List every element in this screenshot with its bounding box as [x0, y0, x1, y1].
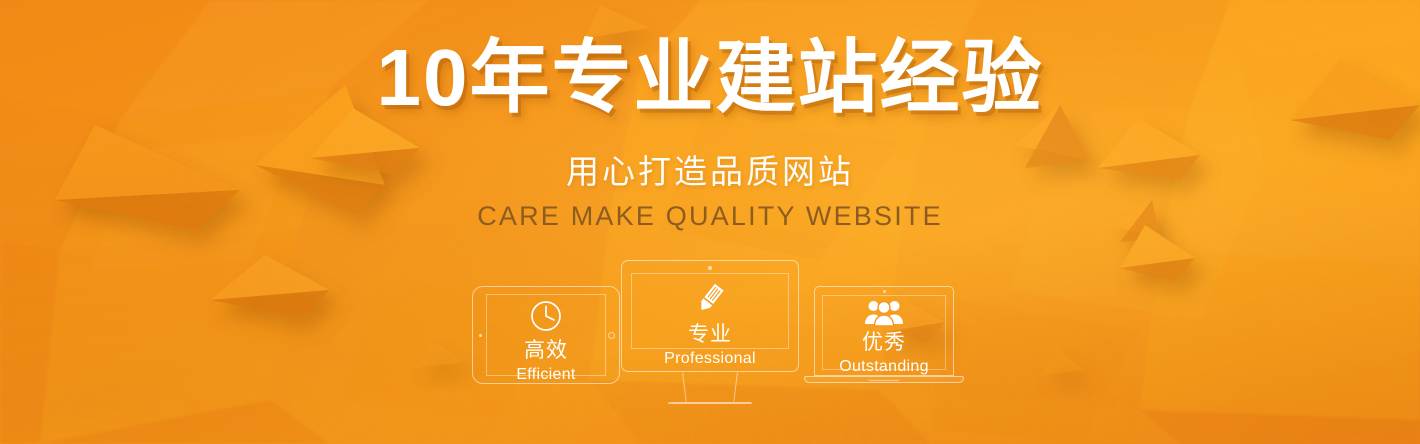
feature-label-cn-professional: 专业	[622, 324, 798, 346]
pencil-icon	[690, 279, 730, 319]
feature-label-en-outstanding: Outstanding	[808, 357, 960, 376]
page-title: 10年专业建站经验	[0, 38, 1420, 118]
feature-device-row: 高效 Efficient	[0, 250, 1420, 410]
people-group-icon	[864, 298, 904, 328]
subtitle-english: CARE MAKE QUALITY WEBSITE	[0, 203, 1420, 230]
monitor-stand-foot	[668, 402, 752, 406]
feature-card-tablet: 高效 Efficient	[472, 286, 620, 384]
feature-label-en-professional: Professional	[622, 349, 798, 368]
feature-card-laptop: 优秀 Outstanding	[808, 286, 960, 378]
clock-icon	[529, 299, 563, 333]
subtitle-chinese: 用心打造品质网站	[0, 155, 1420, 188]
feature-label-cn-outstanding: 优秀	[808, 332, 960, 354]
laptop-camera-icon	[883, 290, 886, 293]
feature-card-monitor: 专业 Professional	[621, 260, 799, 372]
feature-label-cn-efficient: 高效	[473, 340, 619, 362]
monitor-camera-icon	[708, 266, 712, 270]
laptop-trackpad-notch	[868, 378, 900, 381]
monitor-stand-neck	[682, 373, 738, 402]
feature-label-en-efficient: Efficient	[473, 365, 619, 384]
promo-banner: 10年专业建站经验 用心打造品质网站 CARE MAKE QUALITY WEB…	[0, 0, 1420, 444]
